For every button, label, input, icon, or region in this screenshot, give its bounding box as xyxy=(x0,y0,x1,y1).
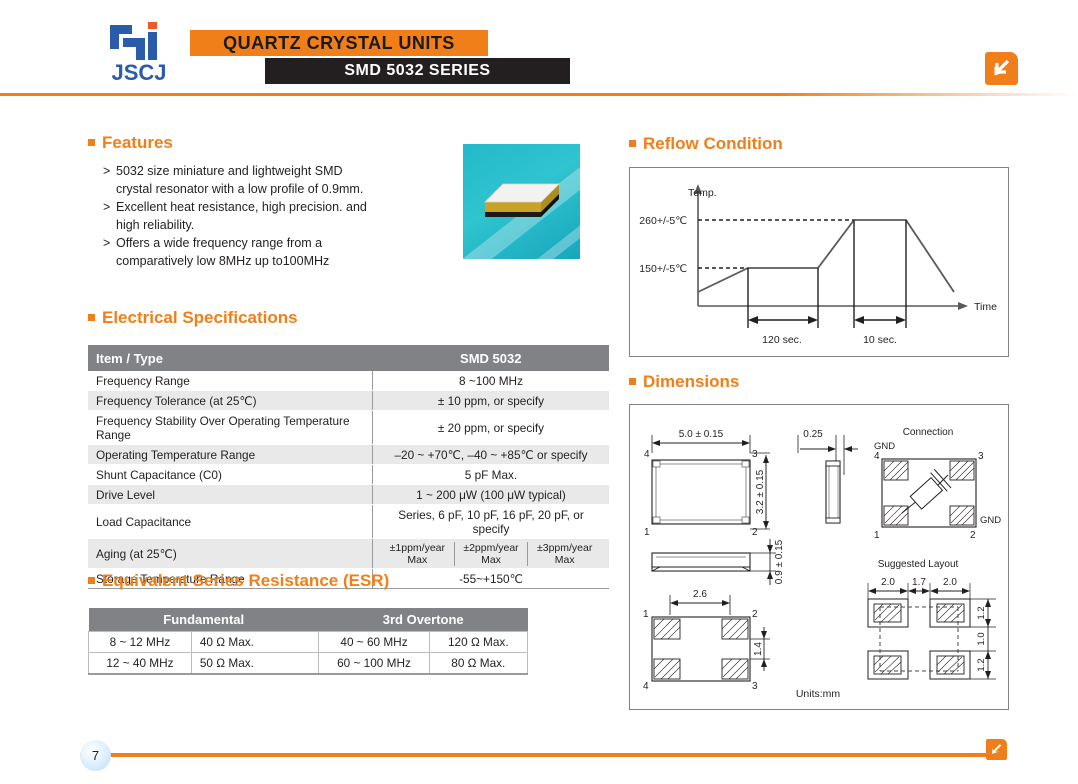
logo-wordmark: JSCJ xyxy=(104,60,174,86)
section-bullet-icon xyxy=(88,577,95,584)
column-header-overtone: 3rd Overtone xyxy=(319,608,528,632)
spec-item: Frequency Range xyxy=(88,371,373,391)
feature-marker: > xyxy=(103,199,116,234)
reflow-profile-chart: 260+/-5℃ 150+/-5℃ Temp. Time 120 sec. 10… xyxy=(630,168,1006,354)
spec-item: Drive Level xyxy=(88,485,373,505)
section-bullet-icon xyxy=(88,139,95,146)
column-header-item: Item / Type xyxy=(88,345,373,371)
section-bullet-icon xyxy=(629,378,636,385)
dimensions-panel: 5.0 ± 0.15 3.2 ± 0.15 4 3 xyxy=(629,404,1009,710)
product-series-title: SMD 5032 SERIES xyxy=(265,58,570,84)
reflow-y-tick-260: 260+/-5℃ xyxy=(639,215,687,227)
top-view-pin-4: 4 xyxy=(644,449,650,460)
feature-marker: > xyxy=(103,235,116,270)
bottom-view-pitch-label: 2.6 xyxy=(693,589,707,600)
fundamental-esr: 40 Ω Max. xyxy=(191,632,319,653)
table-header-row: Fundamental 3rd Overtone xyxy=(89,608,528,632)
aging-value: ±3ppm/year Max xyxy=(527,542,601,566)
reflow-y-axis-label: Temp. xyxy=(688,187,717,199)
overtone-range: 40 ~ 60 MHz xyxy=(319,632,429,653)
aging-value: ±2ppm/year Max xyxy=(454,542,528,566)
page-number: 7 xyxy=(80,740,111,771)
spec-item: Shunt Capacitance (C0) xyxy=(88,465,373,485)
side-view-thickness-label: 0.25 xyxy=(803,429,823,440)
table-row: Drive Level 1 ~ 200 μW (100 μW typical) xyxy=(88,485,609,505)
spec-item: Load Capacitance xyxy=(88,505,373,539)
spec-value: 1 ~ 200 μW (100 μW typical) xyxy=(373,485,610,505)
dimension-drawings: 5.0 ± 0.15 3.2 ± 0.15 4 3 xyxy=(630,405,1006,707)
layout-h-dim-1: 2.0 xyxy=(881,577,895,588)
datasheet-page: JSCJ QUARTZ CRYSTAL UNITS SMD 5032 SERIE… xyxy=(0,0,1078,784)
reflow-profile-panel: 260+/-5℃ 150+/-5℃ Temp. Time 120 sec. 10… xyxy=(629,167,1009,357)
bottom-view-pin-2: 2 xyxy=(752,609,758,620)
spec-value: Series, 6 pF, 10 pF, 16 pF, 20 pF, or sp… xyxy=(373,505,610,539)
overtone-esr: 80 Ω Max. xyxy=(429,653,527,675)
spec-value: 8 ~100 MHz xyxy=(373,371,610,391)
header-corner-badge xyxy=(985,52,1018,85)
bottom-view-pin-4: 4 xyxy=(643,681,649,692)
fundamental-range: 12 ~ 40 MHz xyxy=(89,653,192,675)
footer-corner-badge xyxy=(986,739,1007,760)
spec-value: ± 20 ppm, or specify xyxy=(373,411,610,445)
top-view-pin-1: 1 xyxy=(644,527,650,538)
spec-value: 5 pF Max. xyxy=(373,465,610,485)
bottom-view-pin-1: 1 xyxy=(643,609,649,620)
jscj-logo: JSCJ xyxy=(98,22,174,88)
aging-value: ±1ppm/year Max xyxy=(381,542,454,566)
spec-item: Frequency Stability Over Operating Tempe… xyxy=(88,411,373,445)
header-divider xyxy=(0,93,1078,96)
bottom-view-pin-3: 3 xyxy=(752,681,758,692)
top-view-drawing: 5.0 ± 0.15 3.2 ± 0.15 4 3 xyxy=(644,429,770,538)
dimensions-units-note: Units:mm xyxy=(796,688,841,700)
spec-value: -55~+150℃ xyxy=(373,569,610,589)
section-bullet-icon xyxy=(629,140,636,147)
reflow-condition-heading: Reflow Condition xyxy=(629,134,783,154)
arrow-down-left-icon xyxy=(991,58,1012,79)
reflow-y-tick-150: 150+/-5℃ xyxy=(639,263,687,275)
feature-text: Offers a wide frequency range from a com… xyxy=(116,235,373,270)
feature-item: > 5032 size miniature and lightweight SM… xyxy=(103,163,373,198)
fundamental-range: 8 ~ 12 MHz xyxy=(89,632,192,653)
spec-item: Operating Temperature Range xyxy=(88,445,373,465)
connection-diagram: Connection GND xyxy=(874,427,1001,541)
section-bullet-icon xyxy=(88,314,95,321)
feature-marker: > xyxy=(103,163,116,198)
table-row: 8 ~ 12 MHz 40 Ω Max. 40 ~ 60 MHz 120 Ω M… xyxy=(89,632,528,653)
spec-item: Aging (at 25℃) xyxy=(88,539,373,569)
dimensions-heading: Dimensions xyxy=(629,372,739,392)
connection-pin-1: 1 xyxy=(874,530,880,541)
reflow-duration-10: 10 sec. xyxy=(863,334,897,346)
suggested-layout-title: Suggested Layout xyxy=(878,559,959,570)
suggested-layout-drawing: Suggested Layout 2.0 1.7 2 xyxy=(868,559,996,679)
layout-h-dim-3: 2.0 xyxy=(943,577,957,588)
table-row: Frequency Stability Over Operating Tempe… xyxy=(88,411,609,445)
top-view-width-label: 5.0 ± 0.15 xyxy=(679,429,724,440)
top-view-pin-2: 2 xyxy=(752,527,758,538)
product-category-title: QUARTZ CRYSTAL UNITS xyxy=(190,30,488,56)
page-header: JSCJ QUARTZ CRYSTAL UNITS SMD 5032 SERIE… xyxy=(0,0,1078,96)
logo-mark-icon xyxy=(110,22,166,62)
table-row: Frequency Tolerance (at 25℃) ± 10 ppm, o… xyxy=(88,391,609,411)
connection-pin-4: 4 xyxy=(874,451,880,462)
layout-v-dim-2: 1.0 xyxy=(976,632,987,645)
column-header-type: SMD 5032 xyxy=(373,345,610,371)
top-view-pin-3: 3 xyxy=(752,449,758,460)
table-row: Load Capacitance Series, 6 pF, 10 pF, 16… xyxy=(88,505,609,539)
feature-text: 5032 size miniature and lightweight SMD … xyxy=(116,163,373,198)
fundamental-esr: 50 Ω Max. xyxy=(191,653,319,675)
electrical-specifications-table: Item / Type SMD 5032 Frequency Range 8 ~… xyxy=(88,345,609,589)
table-row: Operating Temperature Range –20 ~ +70℃, … xyxy=(88,445,609,465)
front-view-drawing: 0.9 ± 0.15 xyxy=(652,539,785,585)
connection-gnd-bottom: GND xyxy=(980,515,1001,526)
reflow-x-axis-label: Time xyxy=(974,301,997,313)
esr-heading: Equivalent Series Resistance (ESR) xyxy=(88,571,389,591)
table-row: Shunt Capacitance (C0) 5 pF Max. xyxy=(88,465,609,485)
electrical-specifications-heading: Electrical Specifications xyxy=(88,308,298,328)
feature-item: > Excellent heat resistance, high precis… xyxy=(103,199,373,234)
feature-text: Excellent heat resistance, high precisio… xyxy=(116,199,373,234)
table-header-row: Item / Type SMD 5032 xyxy=(88,345,609,371)
bottom-view-drawing: 2.6 xyxy=(643,589,770,692)
esr-table: Fundamental 3rd Overtone 8 ~ 12 MHz 40 Ω… xyxy=(88,608,528,675)
connection-pin-2: 2 xyxy=(970,530,976,541)
layout-h-dim-2: 1.7 xyxy=(912,577,926,588)
connection-title: Connection xyxy=(903,427,954,438)
features-list: > 5032 size miniature and lightweight SM… xyxy=(103,163,373,271)
table-row: Aging (at 25℃) ±1ppm/year Max ±2ppm/year… xyxy=(88,539,609,569)
reflow-duration-120: 120 sec. xyxy=(762,334,802,346)
spec-item: Frequency Tolerance (at 25℃) xyxy=(88,391,373,411)
spec-value: –20 ~ +70℃, –40 ~ +85℃ or specify xyxy=(373,445,610,465)
table-row: Frequency Range 8 ~100 MHz xyxy=(88,371,609,391)
front-view-height-label: 0.9 ± 0.15 xyxy=(774,539,785,584)
product-photo xyxy=(463,144,580,259)
overtone-esr: 120 Ω Max. xyxy=(429,632,527,653)
layout-v-dim-1: 1.2 xyxy=(976,606,987,619)
footer-divider xyxy=(80,753,1006,757)
side-view-drawing: 0.25 xyxy=(798,429,858,523)
layout-v-dim-3: 1.2 xyxy=(976,658,987,671)
overtone-range: 60 ~ 100 MHz xyxy=(319,653,429,675)
features-heading: Features xyxy=(88,133,173,153)
spec-value: ± 10 ppm, or specify xyxy=(373,391,610,411)
bottom-view-span-label: 1.4 xyxy=(753,642,764,656)
spec-value-group: ±1ppm/year Max ±2ppm/year Max ±3ppm/year… xyxy=(373,539,610,569)
table-row: 12 ~ 40 MHz 50 Ω Max. 60 ~ 100 MHz 80 Ω … xyxy=(89,653,528,675)
connection-pin-3: 3 xyxy=(978,451,984,462)
column-header-fundamental: Fundamental xyxy=(89,608,319,632)
feature-item: > Offers a wide frequency range from a c… xyxy=(103,235,373,270)
top-view-height-label: 3.2 ± 0.15 xyxy=(755,469,766,514)
arrow-down-left-icon xyxy=(990,743,1003,756)
crystal-package-illustration xyxy=(483,176,561,226)
